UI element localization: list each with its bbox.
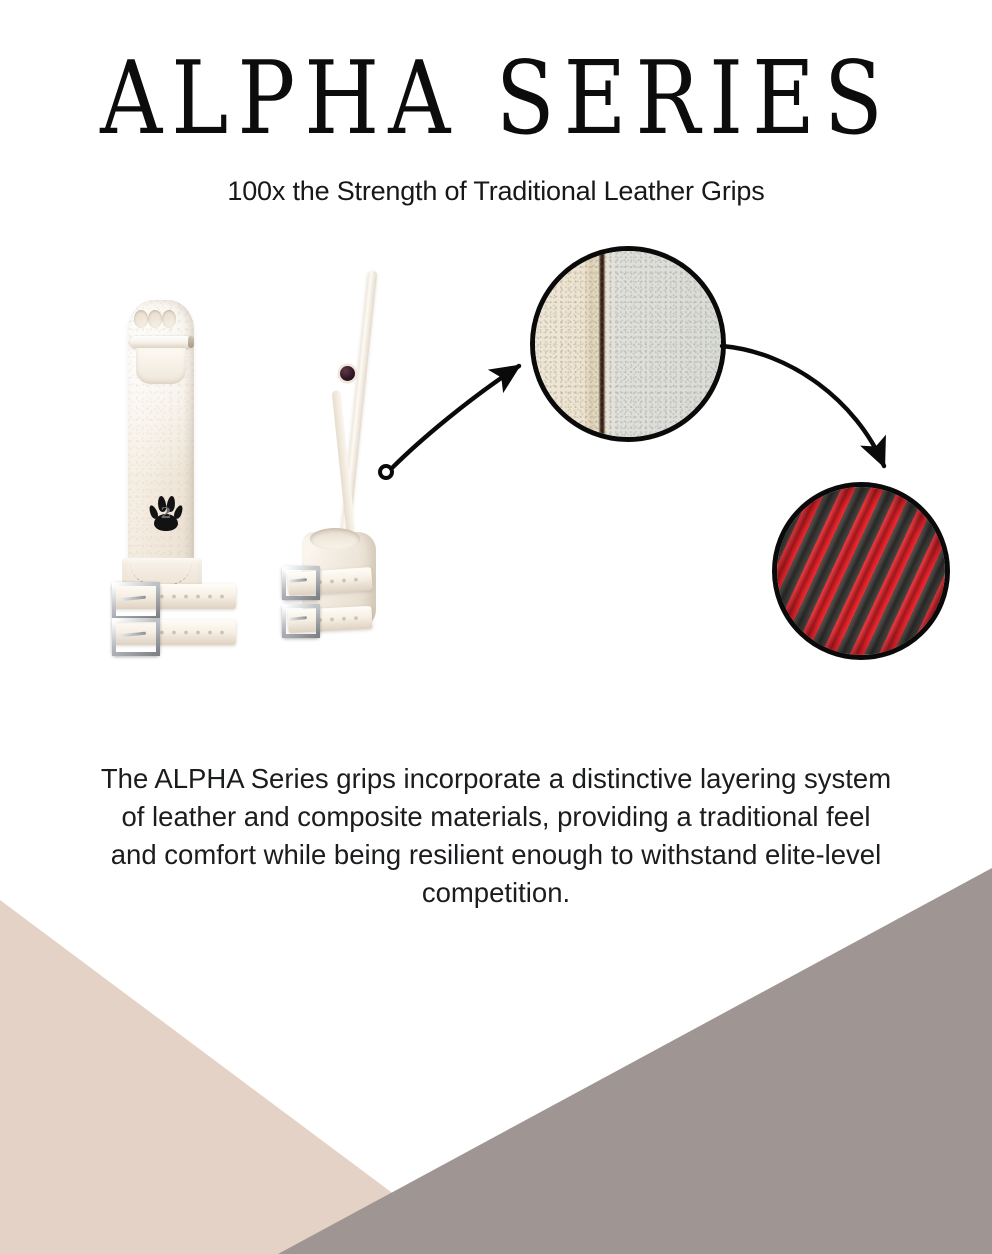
layer-cross-section-detail [530,246,726,442]
grip-dowel [130,336,192,348]
page-title: ALPHA SERIES [0,48,992,149]
page-subtitle: 100x the Strength of Traditional Leather… [0,176,992,207]
strap-buckle [112,582,160,620]
finger-holes [134,310,188,332]
strap-holes [314,615,366,623]
grip-cuff-opening [310,528,360,550]
strap-holes [156,630,230,635]
strap-holes [156,594,230,599]
strap-holes [314,576,366,585]
poster-page: ALPHA SERIES 100x the Strength of Tradit… [0,0,992,1254]
product-grip-front-view: 2 [100,300,220,630]
strap-buckle [282,604,320,638]
carbon-fiber-weave-detail [772,482,950,660]
paw-print-logo: 2 [149,494,183,532]
grip-grommet [340,366,355,381]
body-paragraph: The ALPHA Series grips incorporate a dis… [96,760,896,912]
strap-buckle [282,566,320,600]
paw-logo-number: 2 [149,506,183,521]
strap-buckle [112,618,160,656]
grip-flap [136,348,186,384]
edge-callout-marker [378,464,394,480]
carbon-vignette [777,487,945,655]
cross-section-grain [535,251,721,437]
